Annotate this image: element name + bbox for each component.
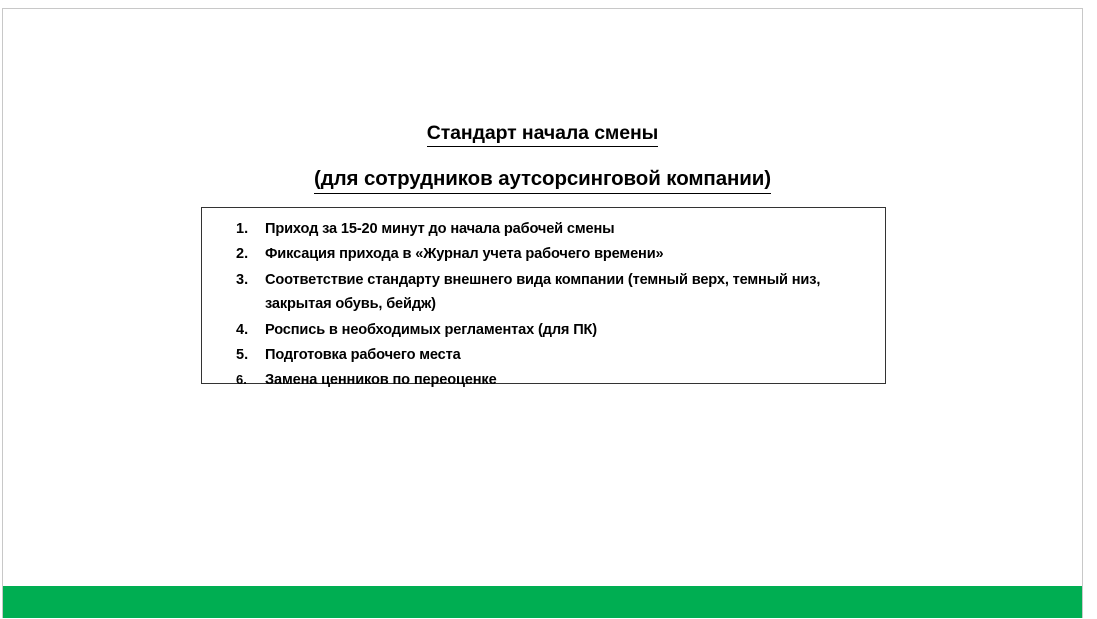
list-item-label: Роспись в необходимых регламентах (для П… (265, 318, 885, 342)
list-item-number: 5. (235, 343, 265, 367)
page-subtitle: (для сотрудников аутсорсинговой компании… (314, 167, 771, 194)
footer-accent-band (3, 586, 1082, 618)
list-item-label: Замена ценников по переоценке (265, 368, 885, 392)
title-block: Стандарт начала смены (3, 122, 1082, 147)
list-item-label: Подготовка рабочего места (265, 343, 885, 367)
list-item-number: 2. (235, 242, 265, 266)
numbered-list-box: 1. Приход за 15-20 минут до начала рабоч… (201, 207, 886, 384)
list-item-number: 4. (235, 318, 265, 342)
subtitle-block: (для сотрудников аутсорсинговой компании… (3, 167, 1082, 194)
list-item-label: Приход за 15-20 минут до начала рабочей … (265, 217, 885, 241)
slide-canvas: Стандарт начала смены (для сотрудников а… (0, 0, 1097, 619)
list-item: 3. Соответствие стандарту внешнего вида … (235, 268, 885, 317)
page-title: Стандарт начала смены (427, 122, 659, 147)
numbered-list: 1. Приход за 15-20 минут до начала рабоч… (235, 217, 885, 394)
list-item: 5. Подготовка рабочего места (235, 343, 885, 367)
list-item: 1. Приход за 15-20 минут до начала рабоч… (235, 217, 885, 241)
presentation-slide: Стандарт начала смены (для сотрудников а… (2, 8, 1083, 618)
list-item-number: 3. (235, 268, 265, 292)
list-item-number: 1. (235, 217, 265, 241)
list-item-number: 6. (235, 368, 265, 392)
list-item: 6. Замена ценников по переоценке (235, 368, 885, 392)
list-item: 2. Фиксация прихода в «Журнал учета рабо… (235, 242, 885, 266)
list-item-label: Фиксация прихода в «Журнал учета рабочег… (265, 242, 885, 266)
list-item-label: Соответствие стандарту внешнего вида ком… (265, 268, 885, 317)
list-item: 4. Роспись в необходимых регламентах (дл… (235, 318, 885, 342)
